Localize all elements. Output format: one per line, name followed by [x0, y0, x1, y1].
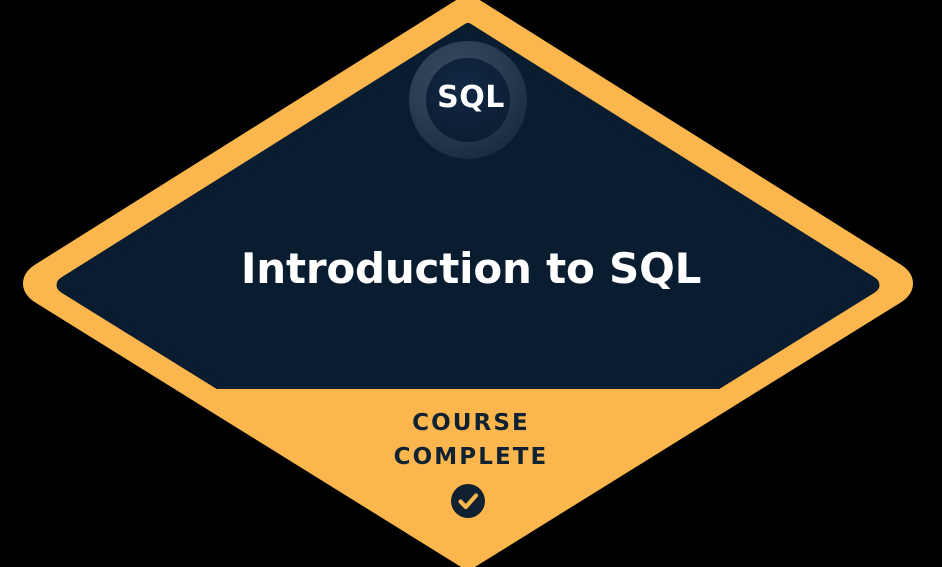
course-completion-badge: SQL Introduction to SQL COURSE COMPLETE [0, 0, 942, 567]
sql-emblem-inner [426, 58, 510, 142]
badge-graphic [0, 0, 942, 567]
check-badge-circle [451, 484, 485, 518]
